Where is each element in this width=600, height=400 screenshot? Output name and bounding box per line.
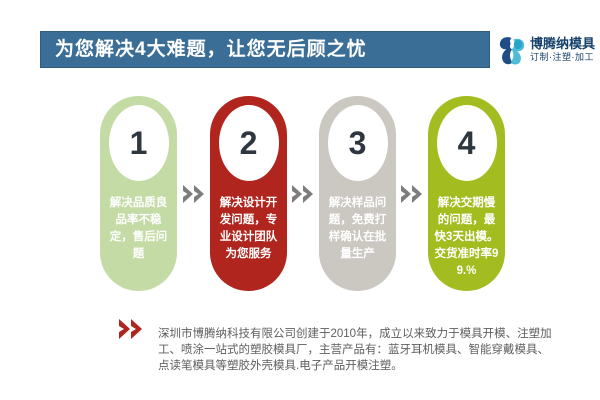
double-chevron-right-icon	[291, 184, 317, 204]
company-intro-block: 深圳市博腾纳科技有限公司创建于2010年，成立以来致力于模具开模、注塑加工、喷涂…	[0, 305, 600, 390]
step-pill-3: 3 解决样品问题，免费打样确认在批量生产	[319, 96, 396, 291]
step-description-2: 解决设计开发问题，专业设计团队为您服务	[216, 195, 282, 263]
step-number-badge-2: 2	[219, 105, 279, 181]
step-pill-4: 4 解决交期慢的问题，最快3天出模。交货准时率99.%	[428, 96, 505, 291]
double-chevron-right-icon	[118, 318, 148, 340]
company-intro-text: 深圳市博腾纳科技有限公司创建于2010年，成立以来致力于模具开模、注塑加工、喷涂…	[158, 326, 558, 374]
slide-canvas: 为您解决4大难题，让您无后顾之忧 博腾纳模具 订制·注塑·加工 1	[0, 0, 600, 400]
title-bar: 为您解决4大难题，让您无后顾之忧	[40, 31, 490, 68]
step-description-1: 解决品质良品率不稳定，售后问题	[106, 195, 172, 263]
step-number-badge-1: 1	[109, 105, 169, 181]
step-number-2: 2	[240, 127, 258, 159]
brand-name: 博腾纳模具	[530, 37, 595, 51]
brand-logo-text: 博腾纳模具 订制·注塑·加工	[530, 37, 595, 63]
double-chevron-right-icon	[400, 184, 426, 204]
header: 为您解决4大难题，让您无后顾之忧 博腾纳模具 订制·注塑·加工	[0, 0, 600, 86]
step-description-3: 解决样品问题，免费打样确认在批量生产	[325, 195, 391, 263]
step-number-1: 1	[130, 127, 148, 159]
step-pill-1: 1 解决品质良品率不稳定，售后问题	[100, 96, 177, 291]
brand-tagline: 订制·注塑·加工	[530, 52, 595, 63]
page-title: 为您解决4大难题，让您无后顾之忧	[41, 40, 367, 59]
step-number-4: 4	[458, 127, 476, 159]
step-number-3: 3	[349, 127, 367, 159]
brand-logo: 博腾纳模具 订制·注塑·加工	[497, 28, 597, 72]
step-number-badge-3: 3	[328, 105, 388, 181]
step-number-badge-4: 4	[437, 105, 497, 181]
step-description-4: 解决交期慢的问题，最快3天出模。交货准时率99.%	[434, 195, 500, 280]
brand-butterfly-icon	[497, 34, 527, 66]
steps-row: 1 解决品质良品率不稳定，售后问题 2 解决设计开发问题，专业设计团队为您服务 …	[0, 96, 600, 296]
step-pill-2: 2 解决设计开发问题，专业设计团队为您服务	[210, 96, 287, 291]
double-chevron-right-icon	[182, 184, 208, 204]
